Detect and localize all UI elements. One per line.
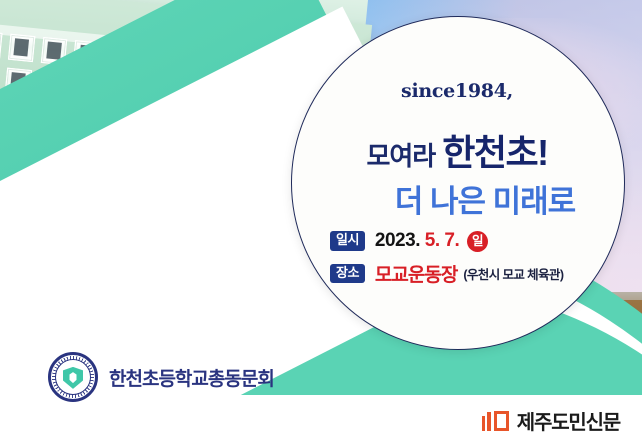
place-value: 모교운동장: [375, 260, 457, 287]
date-year: 2023.: [375, 230, 425, 251]
since-text: since1984,: [291, 80, 623, 102]
date-monthday: 5. 7.: [425, 230, 464, 251]
alumni-association-name: 한천초등학교총동문회: [109, 364, 274, 391]
headline-small: 모여라: [366, 141, 435, 171]
event-poster: 꿈과 감동이 있는 행복한 한천교육 since1984, 모여라한천초! 더 …: [0, 0, 642, 447]
headline-line-1: 모여라한천초!: [291, 124, 623, 176]
place-note: (우천시 모교 체육관): [463, 264, 563, 283]
date-label-badge: 일시: [330, 231, 365, 251]
place-label-badge: 장소: [330, 264, 365, 284]
date-day-badge: 일: [467, 231, 488, 252]
school-seal-icon: [48, 352, 98, 402]
headline-big: 한천초!: [442, 132, 547, 173]
publisher-logo: 제주도민신문: [482, 406, 620, 435]
newspaper-mark-icon: [482, 410, 509, 431]
alumni-association-logo: 한천초등학교총동문회: [48, 352, 274, 402]
headline-line-2: 더 나은 미래로: [291, 176, 637, 221]
publisher-name: 제주도민신문: [517, 406, 620, 435]
date-row: 일시 2023. 5. 7. 일: [330, 230, 488, 252]
place-row: 장소 모교운동장 (우천시 모교 체육관): [330, 260, 563, 287]
date-value: 2023. 5. 7. 일: [375, 230, 488, 252]
